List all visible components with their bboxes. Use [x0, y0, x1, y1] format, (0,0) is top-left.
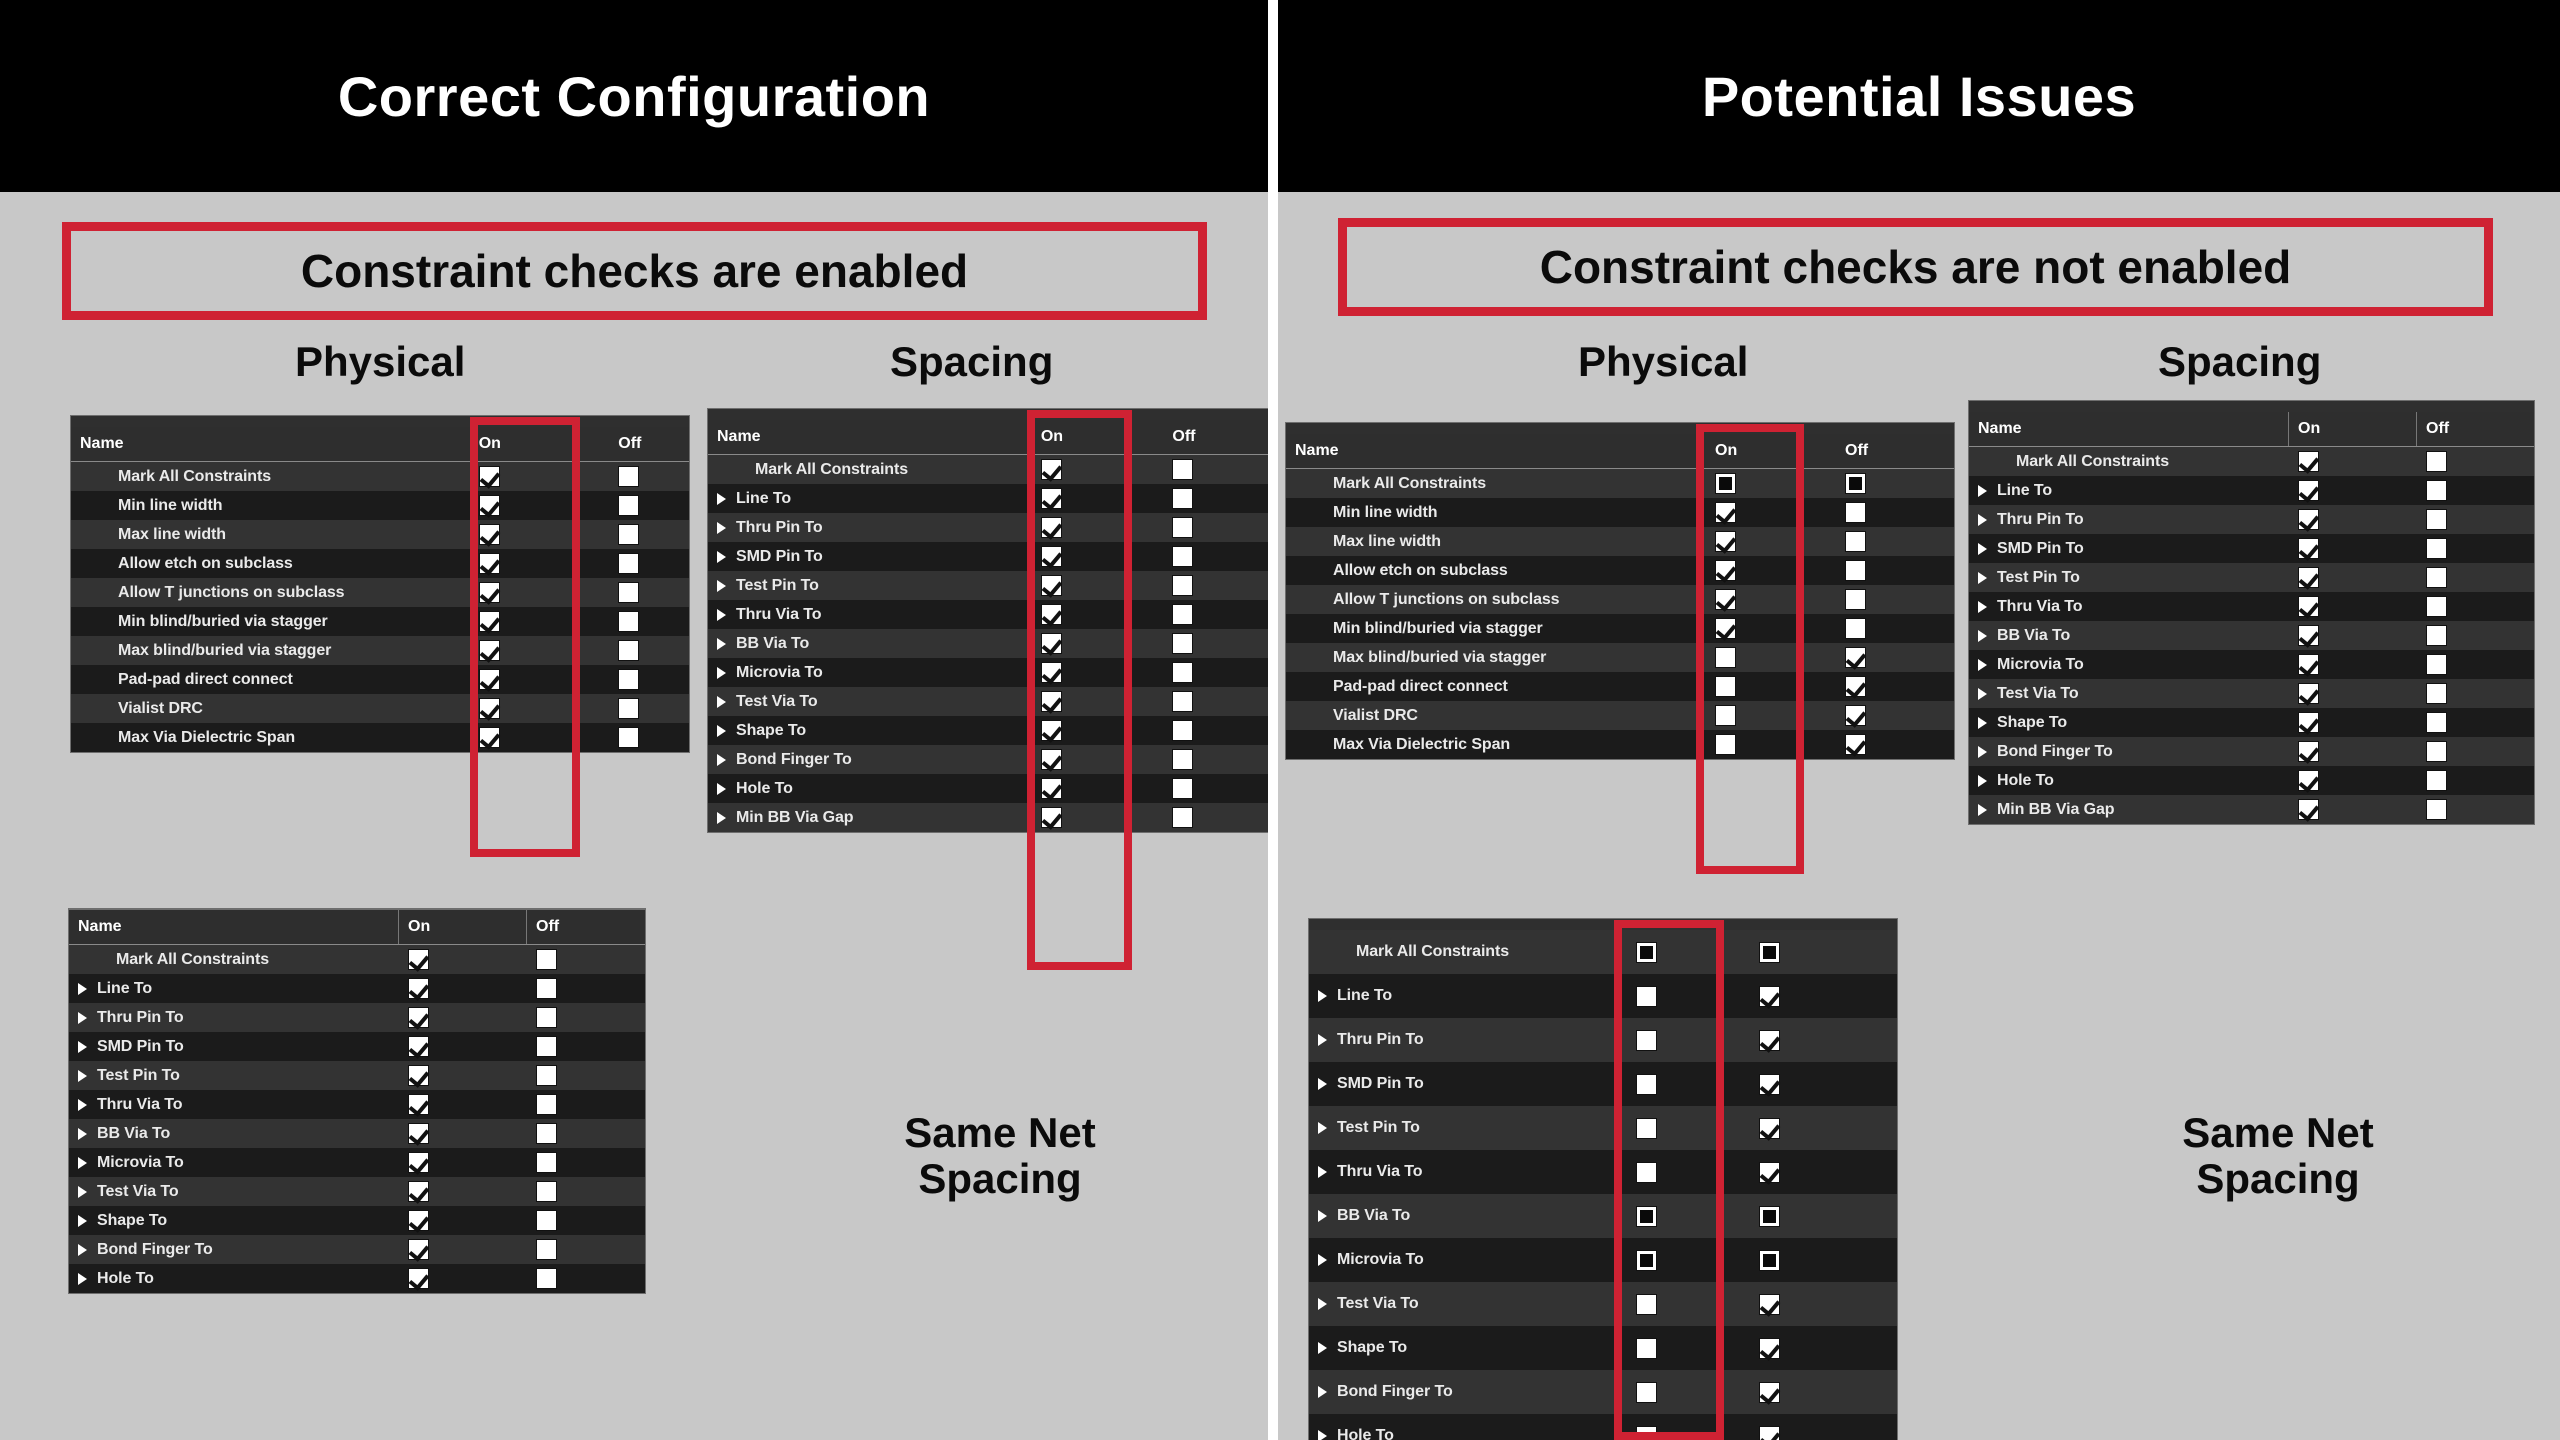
table-row[interactable]: Bond Finger To [1309, 1370, 1897, 1414]
off-cell[interactable] [1750, 1194, 1870, 1238]
checkbox-checked[interactable] [1041, 459, 1062, 480]
checkbox-checked[interactable] [1845, 676, 1866, 697]
checkbox-empty[interactable] [2426, 509, 2447, 530]
expand-triangle-icon[interactable] [1978, 572, 1987, 584]
on-cell[interactable] [470, 636, 610, 665]
table-row[interactable]: Thru Via To [1969, 592, 2534, 621]
checkbox-empty[interactable] [618, 495, 639, 516]
table-row[interactable]: Max line width [1286, 527, 1954, 556]
table-body[interactable]: Mark All ConstraintsLine ToThru Pin ToSM… [1309, 930, 1897, 1440]
on-cell[interactable] [1627, 974, 1750, 1018]
checkbox-empty[interactable] [1172, 662, 1193, 683]
table-row[interactable]: Hole To [1969, 766, 2534, 795]
expand-triangle-icon[interactable] [1978, 688, 1987, 700]
off-cell[interactable] [1836, 585, 1954, 614]
on-cell[interactable] [1627, 1414, 1750, 1440]
on-cell[interactable] [2289, 737, 2417, 766]
on-cell[interactable] [399, 1235, 527, 1264]
off-cell[interactable] [527, 1177, 645, 1206]
off-cell[interactable] [609, 607, 689, 636]
checkbox-empty[interactable] [618, 582, 639, 603]
checkbox-checked[interactable] [1759, 1030, 1780, 1051]
table-body[interactable]: Mark All ConstraintsMin line widthMax li… [71, 462, 689, 752]
checkbox-checked[interactable] [408, 978, 429, 999]
on-cell[interactable] [470, 549, 610, 578]
on-cell[interactable] [399, 1003, 527, 1032]
off-cell[interactable] [1163, 542, 1268, 571]
checkbox-empty[interactable] [1172, 691, 1193, 712]
off-cell[interactable] [1750, 1150, 1870, 1194]
checkbox-empty[interactable] [1172, 459, 1193, 480]
on-cell[interactable] [1706, 643, 1836, 672]
checkbox-empty[interactable] [2426, 538, 2447, 559]
checkbox-empty[interactable] [1636, 1294, 1657, 1315]
checkbox-empty[interactable] [1172, 807, 1193, 828]
table-row[interactable]: Max Via Dielectric Span [1286, 730, 1954, 759]
checkbox-checked[interactable] [1041, 691, 1062, 712]
checkbox-empty[interactable] [1715, 647, 1736, 668]
checkbox-checked[interactable] [479, 640, 500, 661]
off-cell[interactable] [527, 1148, 645, 1177]
checkbox-empty[interactable] [2426, 770, 2447, 791]
checkbox-empty[interactable] [1636, 1382, 1657, 1403]
checkbox-empty[interactable] [2426, 799, 2447, 820]
table-row[interactable]: Min line width [71, 491, 689, 520]
checkbox-empty[interactable] [1172, 749, 1193, 770]
table-row[interactable]: Allow etch on subclass [1286, 556, 1954, 585]
checkbox-filled[interactable] [1759, 942, 1780, 963]
table-row[interactable]: Shape To [708, 716, 1268, 745]
on-cell[interactable] [2289, 592, 2417, 621]
checkbox-empty[interactable] [1172, 778, 1193, 799]
checkbox-checked[interactable] [408, 1152, 429, 1173]
off-cell[interactable] [1836, 556, 1954, 585]
off-cell[interactable] [1163, 803, 1268, 832]
table-row[interactable]: Line To [69, 974, 645, 1003]
off-cell[interactable] [527, 1206, 645, 1235]
on-cell[interactable] [1706, 556, 1836, 585]
checkbox-checked[interactable] [1715, 618, 1736, 639]
checkbox-empty[interactable] [1845, 589, 1866, 610]
on-cell[interactable] [1706, 730, 1836, 759]
off-cell[interactable] [1163, 774, 1268, 803]
checkbox-checked[interactable] [1759, 1338, 1780, 1359]
on-cell[interactable] [1032, 455, 1164, 484]
off-cell[interactable] [1163, 687, 1268, 716]
on-cell[interactable] [1706, 527, 1836, 556]
checkbox-empty[interactable] [1636, 1426, 1657, 1440]
table-row[interactable]: Bond Finger To [708, 745, 1268, 774]
table-row[interactable]: Max blind/buried via stagger [1286, 643, 1954, 672]
on-cell[interactable] [1627, 1326, 1750, 1370]
checkbox-checked[interactable] [1845, 734, 1866, 755]
on-cell[interactable] [1032, 716, 1164, 745]
table-row[interactable]: Vialist DRC [71, 694, 689, 723]
checkbox-empty[interactable] [618, 640, 639, 661]
left-physical-table[interactable]: Name On Off Mark All ConstraintsMin line… [70, 415, 690, 753]
table-row[interactable]: Line To [708, 484, 1268, 513]
table-row[interactable]: Mark All Constraints [1309, 930, 1897, 974]
checkbox-checked[interactable] [1041, 575, 1062, 596]
table-row[interactable]: Bond Finger To [69, 1235, 645, 1264]
off-cell[interactable] [527, 974, 645, 1003]
off-cell[interactable] [1163, 455, 1268, 484]
checkbox-empty[interactable] [1636, 1162, 1657, 1183]
checkbox-checked[interactable] [479, 727, 500, 748]
table-row[interactable]: SMD Pin To [708, 542, 1268, 571]
checkbox-checked[interactable] [408, 1065, 429, 1086]
off-cell[interactable] [527, 1235, 645, 1264]
expand-triangle-icon[interactable] [78, 1041, 87, 1053]
checkbox-empty[interactable] [536, 1007, 557, 1028]
table-body[interactable]: Mark All ConstraintsMin line widthMax li… [1286, 469, 1954, 759]
checkbox-empty[interactable] [2426, 567, 2447, 588]
table-row[interactable]: Allow T junctions on subclass [71, 578, 689, 607]
table-row[interactable]: Test Pin To [69, 1061, 645, 1090]
expand-triangle-icon[interactable] [78, 1128, 87, 1140]
table-row[interactable]: Thru Via To [69, 1090, 645, 1119]
expand-triangle-icon[interactable] [1318, 1298, 1327, 1310]
table-row[interactable]: Mark All Constraints [71, 462, 689, 491]
off-cell[interactable] [609, 665, 689, 694]
on-cell[interactable] [1032, 600, 1164, 629]
on-cell[interactable] [399, 1264, 527, 1293]
table-row[interactable]: Test Via To [1969, 679, 2534, 708]
on-cell[interactable] [399, 945, 527, 974]
off-cell[interactable] [527, 1003, 645, 1032]
checkbox-checked[interactable] [1041, 604, 1062, 625]
checkbox-checked[interactable] [2298, 654, 2319, 675]
checkbox-empty[interactable] [1845, 618, 1866, 639]
expand-triangle-icon[interactable] [78, 1215, 87, 1227]
checkbox-checked[interactable] [408, 1181, 429, 1202]
checkbox-checked[interactable] [1715, 589, 1736, 610]
expand-triangle-icon[interactable] [1318, 1078, 1327, 1090]
table-row[interactable]: Bond Finger To [1969, 737, 2534, 766]
expand-triangle-icon[interactable] [1978, 601, 1987, 613]
checkbox-filled[interactable] [1759, 1206, 1780, 1227]
checkbox-checked[interactable] [408, 1239, 429, 1260]
expand-triangle-icon[interactable] [717, 812, 726, 824]
right-spacing-table[interactable]: Name On Off Mark All ConstraintsLine ToT… [1968, 400, 2535, 825]
table-row[interactable]: SMD Pin To [1309, 1062, 1897, 1106]
checkbox-checked[interactable] [408, 1123, 429, 1144]
expand-triangle-icon[interactable] [717, 638, 726, 650]
checkbox-empty[interactable] [2426, 451, 2447, 472]
on-cell[interactable] [399, 1148, 527, 1177]
off-cell[interactable] [2417, 795, 2534, 824]
checkbox-empty[interactable] [1172, 546, 1193, 567]
off-cell[interactable] [609, 462, 689, 491]
off-cell[interactable] [2417, 650, 2534, 679]
off-cell[interactable] [527, 1061, 645, 1090]
checkbox-checked[interactable] [1041, 488, 1062, 509]
expand-triangle-icon[interactable] [717, 522, 726, 534]
on-cell[interactable] [2289, 447, 2417, 476]
on-cell[interactable] [1032, 658, 1164, 687]
on-cell[interactable] [1032, 513, 1164, 542]
off-cell[interactable] [1836, 469, 1954, 498]
table-body[interactable]: Mark All ConstraintsLine ToThru Pin ToSM… [708, 455, 1268, 832]
checkbox-empty[interactable] [536, 1094, 557, 1115]
checkbox-checked[interactable] [479, 553, 500, 574]
checkbox-filled[interactable] [1759, 1250, 1780, 1271]
expand-triangle-icon[interactable] [78, 1186, 87, 1198]
checkbox-checked[interactable] [2298, 683, 2319, 704]
on-cell[interactable] [1706, 701, 1836, 730]
table-row[interactable]: Mark All Constraints [708, 455, 1268, 484]
on-cell[interactable] [470, 462, 610, 491]
expand-triangle-icon[interactable] [1978, 543, 1987, 555]
checkbox-empty[interactable] [1845, 502, 1866, 523]
off-cell[interactable] [2417, 563, 2534, 592]
on-cell[interactable] [1032, 571, 1164, 600]
checkbox-empty[interactable] [618, 611, 639, 632]
expand-triangle-icon[interactable] [1318, 990, 1327, 1002]
table-row[interactable]: Pad-pad direct connect [71, 665, 689, 694]
off-cell[interactable] [1750, 1238, 1870, 1282]
table-row[interactable]: Test Pin To [1309, 1106, 1897, 1150]
checkbox-empty[interactable] [536, 1123, 557, 1144]
table-row[interactable]: BB Via To [708, 629, 1268, 658]
off-cell[interactable] [1836, 701, 1954, 730]
checkbox-checked[interactable] [2298, 712, 2319, 733]
off-cell[interactable] [1836, 614, 1954, 643]
left-spacing-table[interactable]: Name On Off Mark All ConstraintsLine ToT… [707, 408, 1268, 833]
checkbox-checked[interactable] [2298, 509, 2319, 530]
off-cell[interactable] [1163, 745, 1268, 774]
checkbox-checked[interactable] [1759, 1162, 1780, 1183]
checkbox-empty[interactable] [618, 727, 639, 748]
expand-triangle-icon[interactable] [717, 725, 726, 737]
off-cell[interactable] [1836, 672, 1954, 701]
on-cell[interactable] [1627, 1150, 1750, 1194]
on-cell[interactable] [2289, 650, 2417, 679]
on-cell[interactable] [470, 491, 610, 520]
checkbox-checked[interactable] [2298, 596, 2319, 617]
table-row[interactable]: Test Pin To [1969, 563, 2534, 592]
expand-triangle-icon[interactable] [1318, 1122, 1327, 1134]
checkbox-empty[interactable] [618, 466, 639, 487]
checkbox-empty[interactable] [2426, 741, 2447, 762]
expand-triangle-icon[interactable] [78, 983, 87, 995]
checkbox-empty[interactable] [1845, 531, 1866, 552]
on-cell[interactable] [1627, 1194, 1750, 1238]
checkbox-empty[interactable] [536, 1036, 557, 1057]
checkbox-filled[interactable] [1715, 473, 1736, 494]
on-cell[interactable] [2289, 563, 2417, 592]
on-cell[interactable] [1706, 672, 1836, 701]
checkbox-checked[interactable] [2298, 625, 2319, 646]
on-cell[interactable] [470, 607, 610, 636]
on-cell[interactable] [1032, 687, 1164, 716]
table-row[interactable]: Thru Via To [1309, 1150, 1897, 1194]
expand-triangle-icon[interactable] [78, 1099, 87, 1111]
off-cell[interactable] [527, 1119, 645, 1148]
checkbox-empty[interactable] [618, 553, 639, 574]
checkbox-checked[interactable] [408, 1007, 429, 1028]
checkbox-checked[interactable] [408, 1268, 429, 1289]
off-cell[interactable] [2417, 766, 2534, 795]
off-cell[interactable] [1163, 484, 1268, 513]
on-cell[interactable] [470, 520, 610, 549]
off-cell[interactable] [1163, 513, 1268, 542]
right-physical-table[interactable]: Name On Off Mark All ConstraintsMin line… [1285, 422, 1955, 760]
checkbox-checked[interactable] [2298, 741, 2319, 762]
checkbox-checked[interactable] [408, 1210, 429, 1231]
off-cell[interactable] [2417, 737, 2534, 766]
checkbox-empty[interactable] [1636, 1030, 1657, 1051]
expand-triangle-icon[interactable] [78, 1012, 87, 1024]
table-row[interactable]: Min blind/buried via stagger [1286, 614, 1954, 643]
checkbox-checked[interactable] [1759, 986, 1780, 1007]
on-cell[interactable] [2289, 708, 2417, 737]
off-cell[interactable] [1750, 1106, 1870, 1150]
off-cell[interactable] [527, 1090, 645, 1119]
checkbox-empty[interactable] [1715, 676, 1736, 697]
off-cell[interactable] [2417, 592, 2534, 621]
checkbox-filled[interactable] [1636, 1206, 1657, 1227]
table-row[interactable]: BB Via To [1309, 1194, 1897, 1238]
expand-triangle-icon[interactable] [717, 551, 726, 563]
off-cell[interactable] [1750, 1326, 1870, 1370]
checkbox-empty[interactable] [618, 669, 639, 690]
expand-triangle-icon[interactable] [1318, 1254, 1327, 1266]
checkbox-checked[interactable] [1845, 705, 1866, 726]
table-row[interactable]: Microvia To [69, 1148, 645, 1177]
table-row[interactable]: Min BB Via Gap [708, 803, 1268, 832]
table-row[interactable]: Test Via To [1309, 1282, 1897, 1326]
off-cell[interactable] [1750, 974, 1870, 1018]
checkbox-checked[interactable] [1041, 749, 1062, 770]
table-row[interactable]: Mark All Constraints [69, 945, 645, 974]
expand-triangle-icon[interactable] [1318, 1166, 1327, 1178]
checkbox-empty[interactable] [536, 1065, 557, 1086]
on-cell[interactable] [470, 723, 610, 752]
checkbox-empty[interactable] [618, 698, 639, 719]
checkbox-checked[interactable] [2298, 567, 2319, 588]
table-row[interactable]: Allow etch on subclass [71, 549, 689, 578]
on-cell[interactable] [1706, 585, 1836, 614]
checkbox-empty[interactable] [1172, 720, 1193, 741]
on-cell[interactable] [470, 694, 610, 723]
on-cell[interactable] [1706, 498, 1836, 527]
off-cell[interactable] [1163, 629, 1268, 658]
off-cell[interactable] [1836, 498, 1954, 527]
checkbox-empty[interactable] [2426, 480, 2447, 501]
table-row[interactable]: Microvia To [708, 658, 1268, 687]
table-body[interactable]: Mark All ConstraintsLine ToThru Pin ToSM… [1969, 447, 2534, 824]
table-row[interactable]: Min BB Via Gap [1969, 795, 2534, 824]
checkbox-checked[interactable] [1715, 531, 1736, 552]
on-cell[interactable] [1627, 1018, 1750, 1062]
checkbox-empty[interactable] [536, 1152, 557, 1173]
on-cell[interactable] [1627, 1062, 1750, 1106]
off-cell[interactable] [1836, 730, 1954, 759]
table-row[interactable]: Min blind/buried via stagger [71, 607, 689, 636]
table-row[interactable]: Mark All Constraints [1969, 447, 2534, 476]
checkbox-empty[interactable] [1172, 575, 1193, 596]
off-cell[interactable] [527, 1264, 645, 1293]
off-cell[interactable] [2417, 447, 2534, 476]
on-cell[interactable] [1032, 774, 1164, 803]
expand-triangle-icon[interactable] [717, 667, 726, 679]
table-row[interactable]: Test Pin To [708, 571, 1268, 600]
on-cell[interactable] [1627, 1106, 1750, 1150]
checkbox-empty[interactable] [2426, 683, 2447, 704]
checkbox-filled[interactable] [1845, 473, 1866, 494]
on-cell[interactable] [399, 1177, 527, 1206]
left-same-net-spacing-table[interactable]: Name On Off Mark All ConstraintsLine ToT… [68, 908, 646, 1294]
checkbox-empty[interactable] [536, 1210, 557, 1231]
checkbox-empty[interactable] [1636, 1118, 1657, 1139]
table-row[interactable]: SMD Pin To [69, 1032, 645, 1061]
expand-triangle-icon[interactable] [1318, 1034, 1327, 1046]
expand-triangle-icon[interactable] [1978, 630, 1987, 642]
checkbox-empty[interactable] [1172, 604, 1193, 625]
right-same-net-spacing-table[interactable]: Mark All ConstraintsLine ToThru Pin ToSM… [1308, 918, 1898, 1440]
table-row[interactable]: Thru Pin To [708, 513, 1268, 542]
checkbox-empty[interactable] [1172, 488, 1193, 509]
on-cell[interactable] [399, 1119, 527, 1148]
table-row[interactable]: SMD Pin To [1969, 534, 2534, 563]
off-cell[interactable] [527, 1032, 645, 1061]
table-row[interactable]: Mark All Constraints [1286, 469, 1954, 498]
table-row[interactable]: Thru Pin To [1309, 1018, 1897, 1062]
expand-triangle-icon[interactable] [1978, 775, 1987, 787]
table-row[interactable]: Vialist DRC [1286, 701, 1954, 730]
checkbox-empty[interactable] [1636, 1338, 1657, 1359]
checkbox-empty[interactable] [1636, 986, 1657, 1007]
on-cell[interactable] [1627, 1238, 1750, 1282]
expand-triangle-icon[interactable] [1318, 1342, 1327, 1354]
checkbox-empty[interactable] [536, 1239, 557, 1260]
off-cell[interactable] [1750, 1414, 1870, 1440]
on-cell[interactable] [399, 1032, 527, 1061]
off-cell[interactable] [1163, 571, 1268, 600]
checkbox-checked[interactable] [2298, 538, 2319, 559]
on-cell[interactable] [399, 1206, 527, 1235]
off-cell[interactable] [1750, 1018, 1870, 1062]
checkbox-checked[interactable] [2298, 799, 2319, 820]
expand-triangle-icon[interactable] [1978, 804, 1987, 816]
expand-triangle-icon[interactable] [1318, 1210, 1327, 1222]
checkbox-empty[interactable] [536, 1181, 557, 1202]
table-row[interactable]: Shape To [69, 1206, 645, 1235]
checkbox-checked[interactable] [2298, 480, 2319, 501]
table-row[interactable]: Test Via To [69, 1177, 645, 1206]
off-cell[interactable] [609, 723, 689, 752]
on-cell[interactable] [2289, 534, 2417, 563]
table-row[interactable]: Min line width [1286, 498, 1954, 527]
expand-triangle-icon[interactable] [1978, 746, 1987, 758]
checkbox-empty[interactable] [1172, 633, 1193, 654]
on-cell[interactable] [1032, 745, 1164, 774]
table-row[interactable]: Max Via Dielectric Span [71, 723, 689, 752]
table-row[interactable]: Pad-pad direct connect [1286, 672, 1954, 701]
off-cell[interactable] [1836, 643, 1954, 672]
off-cell[interactable] [2417, 621, 2534, 650]
off-cell[interactable] [1163, 600, 1268, 629]
checkbox-checked[interactable] [2298, 770, 2319, 791]
off-cell[interactable] [609, 491, 689, 520]
on-cell[interactable] [470, 665, 610, 694]
table-row[interactable]: Thru Via To [708, 600, 1268, 629]
checkbox-checked[interactable] [1041, 517, 1062, 538]
on-cell[interactable] [1627, 1370, 1750, 1414]
off-cell[interactable] [2417, 534, 2534, 563]
off-cell[interactable] [2417, 505, 2534, 534]
